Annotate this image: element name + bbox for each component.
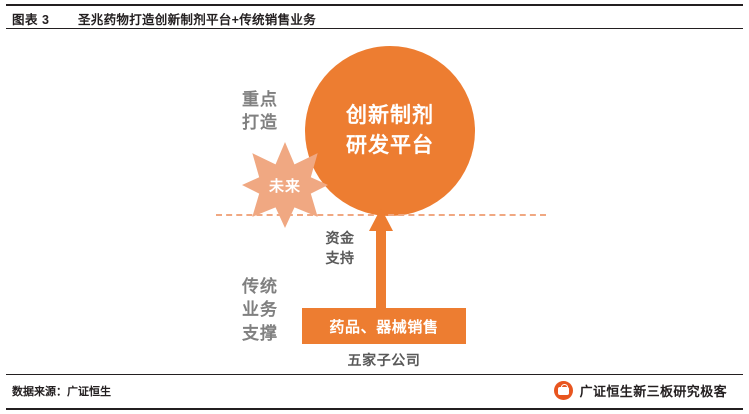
arrow-head xyxy=(369,208,393,231)
footer-rule-bottom xyxy=(6,408,743,410)
traditional-label-line2: 业务 xyxy=(214,298,306,321)
funding-label-line2: 支持 xyxy=(312,249,368,269)
source-note: 数据来源：广证恒生 xyxy=(12,383,111,399)
figure-panel: 图表 3 圣兆药物打造创新制剂平台+传统销售业务 重点 打造 创新制剂 研发平台… xyxy=(0,0,749,414)
brand-name: 广证恒生新三板研究极客 xyxy=(580,381,727,400)
figure-header: 图表 3 圣兆药物打造创新制剂平台+传统销售业务 xyxy=(0,0,749,30)
funding-label-line1: 资金 xyxy=(312,229,368,249)
circle-line2: 研发平台 xyxy=(346,131,434,161)
sales-box: 药品、器械销售 xyxy=(302,308,466,344)
figure-title: 圣兆药物打造创新制剂平台+传统销售业务 xyxy=(78,9,316,28)
traditional-label-line1: 传统 xyxy=(214,275,306,298)
funding-arrow-icon xyxy=(369,208,393,308)
header-rule-bottom xyxy=(6,28,743,29)
sales-caption: 五家子公司 xyxy=(302,350,466,370)
wechat-icon xyxy=(554,381,573,400)
figure-label: 图表 3 xyxy=(12,9,49,28)
focus-label: 重点 打造 xyxy=(222,88,298,135)
circle-line1: 创新制剂 xyxy=(346,101,434,131)
funding-label: 资金 支持 xyxy=(312,229,368,269)
brand-watermark: 广证恒生新三板研究极客 xyxy=(554,381,727,400)
traditional-business-label: 传统 业务 支撑 xyxy=(214,275,306,345)
diagram-canvas: 重点 打造 创新制剂 研发平台 未来 资金 支持 传统 业务 支撑 药品、器械销… xyxy=(0,30,749,374)
focus-label-line1: 重点 xyxy=(222,88,298,111)
innovation-platform-circle: 创新制剂 研发平台 xyxy=(305,46,475,216)
focus-label-line2: 打造 xyxy=(222,111,298,134)
traditional-label-line3: 支撑 xyxy=(214,322,306,345)
header-rule-top xyxy=(6,4,743,6)
footer-rule-top xyxy=(6,374,743,375)
arrow-stem xyxy=(376,230,386,308)
